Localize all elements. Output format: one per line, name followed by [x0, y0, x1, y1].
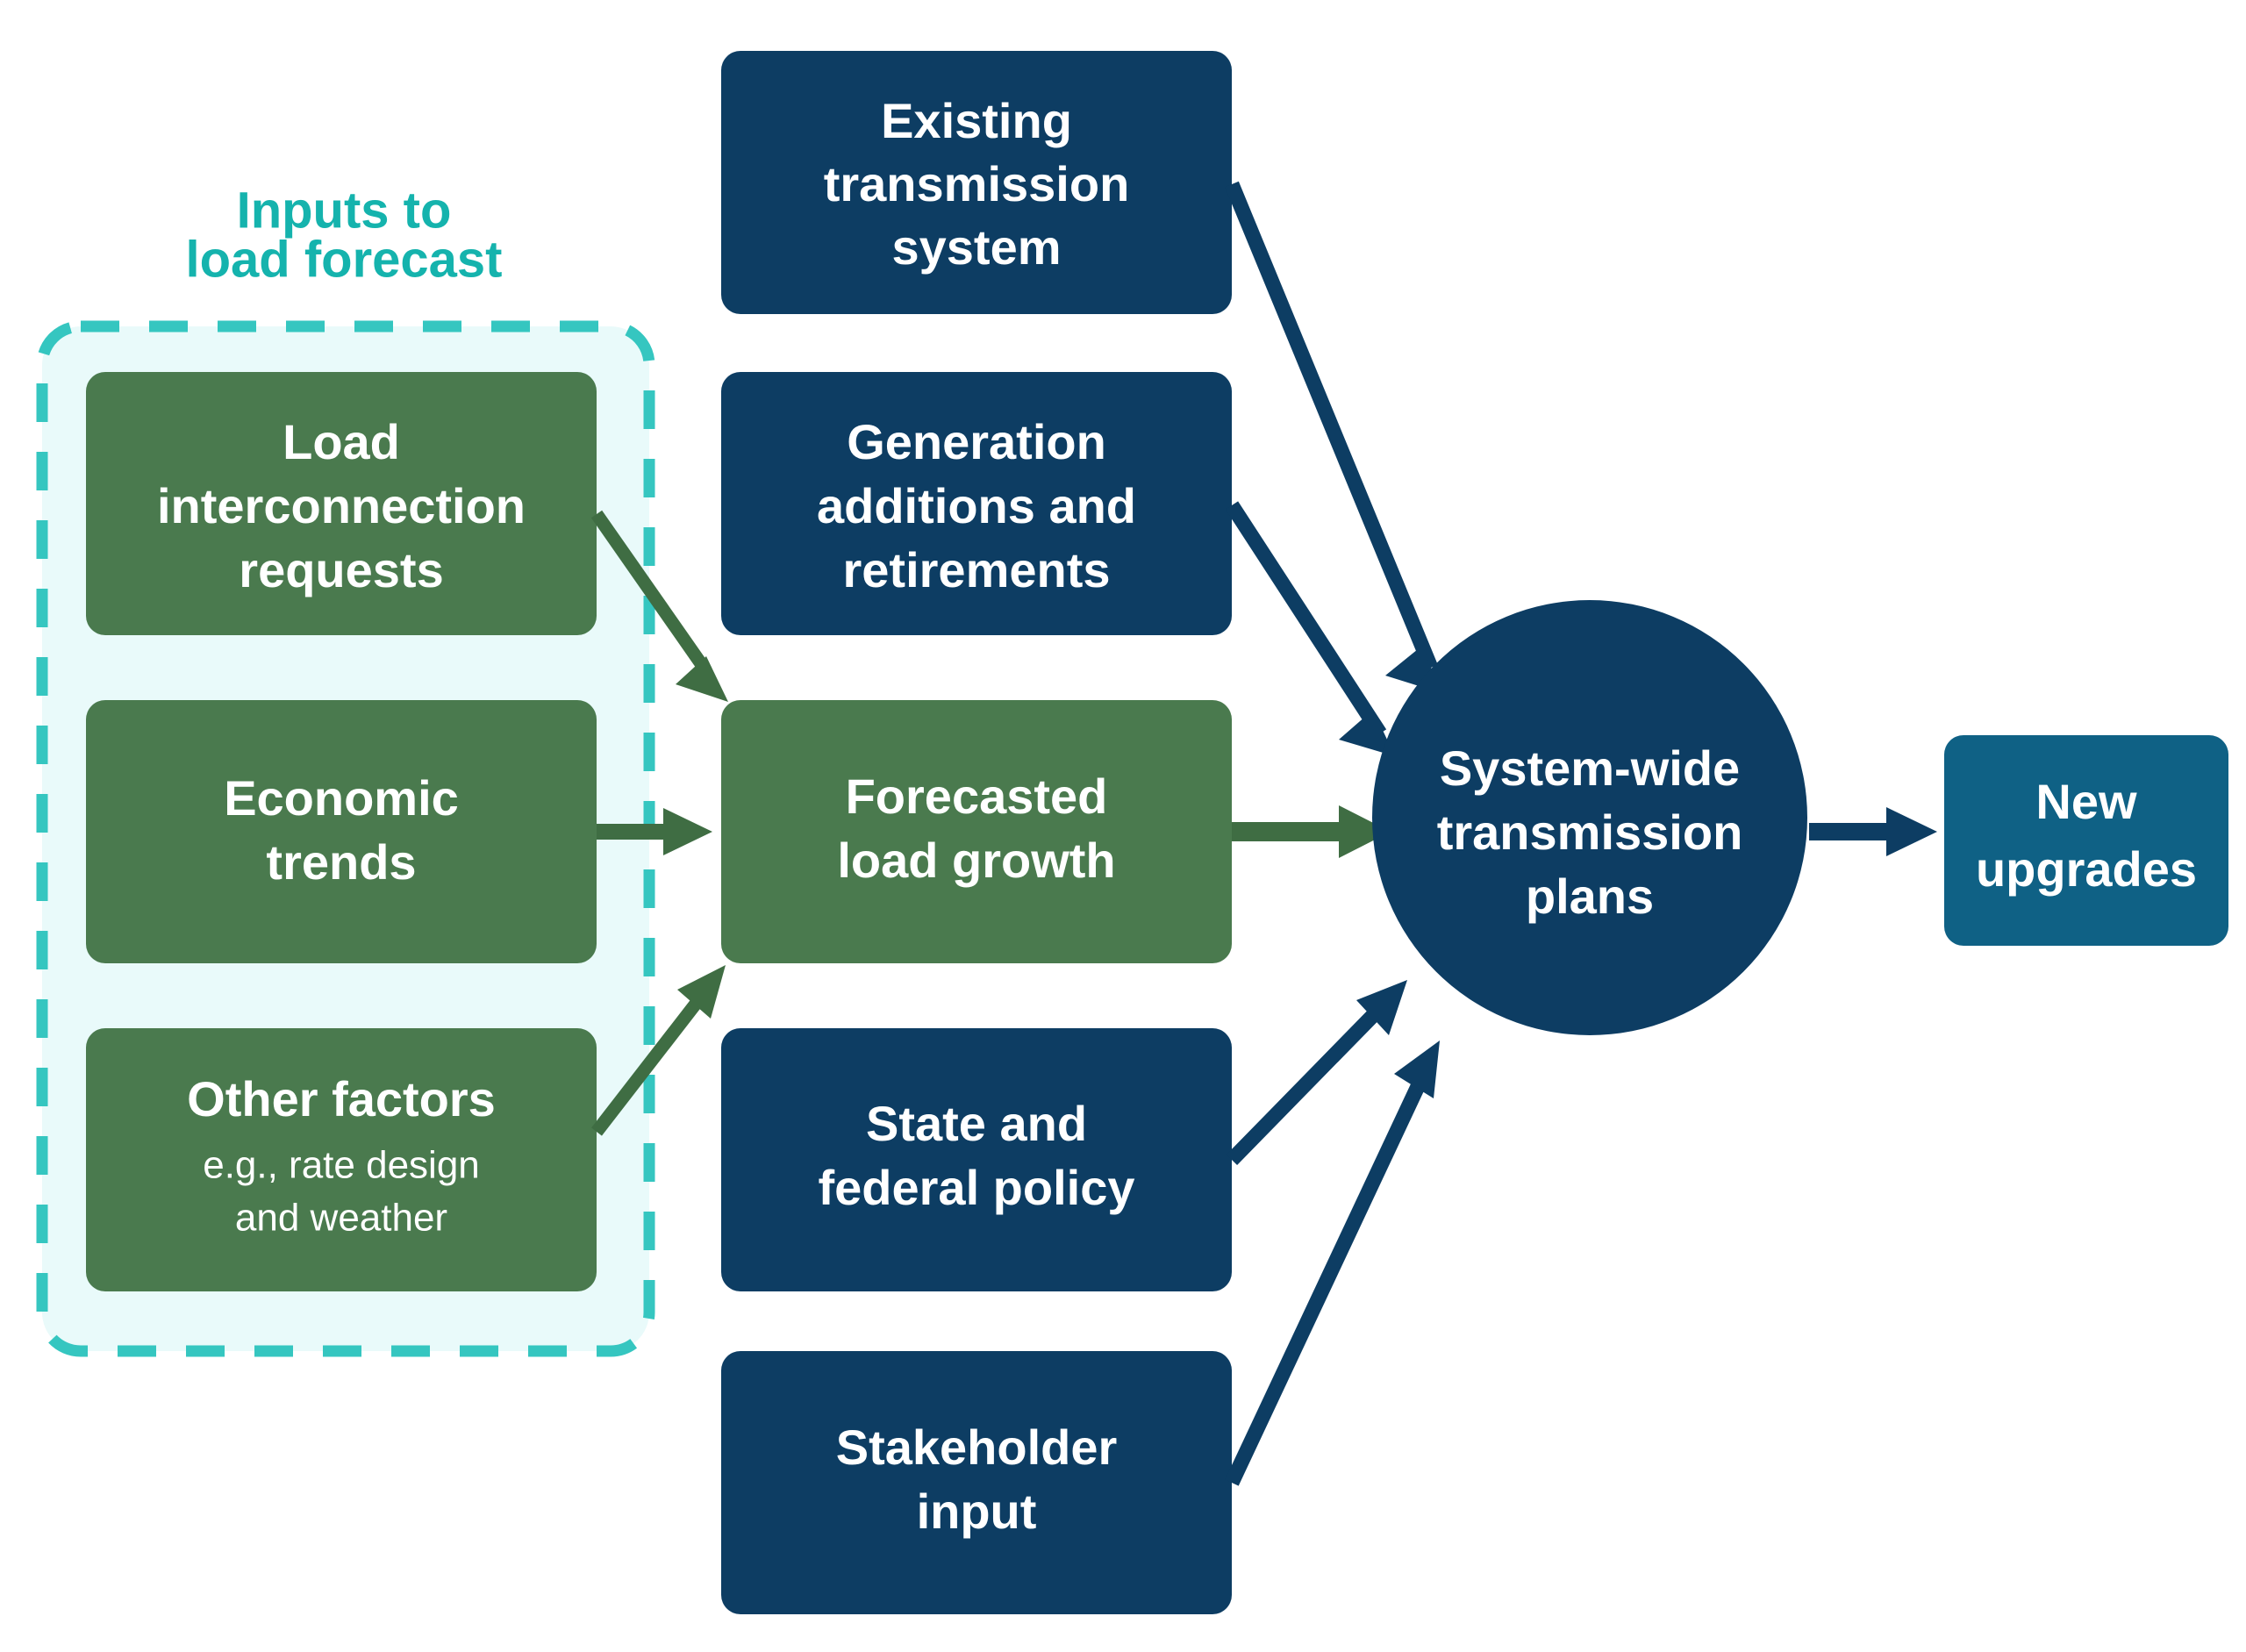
- node-line-1: Load: [283, 414, 400, 469]
- edge-stakeholder-input-to-hub: [1232, 1041, 1440, 1483]
- node-generation-additions-and-retirements[interactable]: Generation additions and retirements: [721, 372, 1232, 635]
- node-state-and-federal-policy[interactable]: State and federal policy: [721, 1028, 1232, 1291]
- node-line-2: additions and: [817, 478, 1136, 533]
- node-line-3: retirements: [842, 542, 1110, 597]
- node-line-2: federal policy: [818, 1160, 1134, 1215]
- hub-line-3: plans: [1526, 869, 1654, 924]
- node-line-1: Existing: [881, 93, 1072, 148]
- node-line-2: input: [917, 1484, 1037, 1539]
- node-line-1: New: [2035, 774, 2137, 829]
- node-line-1: Other factors: [187, 1071, 496, 1126]
- node-existing-transmission-system[interactable]: Existing transmission system: [721, 51, 1232, 314]
- node-stakeholder-input[interactable]: Stakeholder input: [721, 1351, 1232, 1614]
- node-line-1: State and: [866, 1096, 1087, 1151]
- node-line-3: system: [891, 219, 1061, 275]
- edge-state-and-federal-policy-to-hub: [1232, 980, 1407, 1160]
- node-new-upgrades[interactable]: New upgrades: [1944, 735, 2228, 946]
- node-other-factors[interactable]: Other factors e.g., rate design and weat…: [86, 1028, 597, 1291]
- node-forecasted-load-growth[interactable]: Forecasted load growth: [721, 700, 1232, 963]
- node-line-3: requests: [239, 542, 443, 597]
- node-line-1: Economic: [224, 770, 459, 826]
- node-economic-trends[interactable]: Economic trends: [86, 700, 597, 963]
- edge-generation-additions-and-retirements-to-hub: [1232, 505, 1395, 756]
- node-system-wide-transmission-plans[interactable]: System-wide transmission plans: [1372, 600, 1807, 1035]
- node-line-2: upgrades: [1976, 841, 2197, 897]
- node-line-2: transmission: [824, 156, 1130, 211]
- hub-line-1: System-wide: [1440, 740, 1740, 796]
- diagram-canvas: Inputs to load forecast Load interconnec…: [0, 0, 2246, 1652]
- node-line-1: Stakeholder: [836, 1420, 1118, 1475]
- node-load-interconnection-requests[interactable]: Load interconnection requests: [86, 372, 597, 635]
- edge-existing-transmission-system-to-hub: [1232, 184, 1441, 693]
- hub-line-2: transmission: [1437, 805, 1743, 860]
- node-subline-2: and weather: [235, 1197, 447, 1240]
- edge-forecasted-load-growth-to-hub: [1232, 805, 1391, 858]
- node-line-2: load growth: [837, 833, 1115, 888]
- node-line-2: interconnection: [157, 478, 526, 533]
- node-subline-1: e.g., rate design: [203, 1144, 480, 1187]
- node-line-2: trends: [266, 834, 416, 890]
- node-box: [86, 700, 597, 963]
- node-line-1: Forecasted: [846, 769, 1108, 824]
- inputs-group-title-line2: load forecast: [186, 231, 503, 288]
- edge-hub-to-new-upgrades: [1809, 807, 1937, 856]
- node-line-1: Generation: [847, 414, 1106, 469]
- flow-diagram: Inputs to load forecast Load interconnec…: [0, 0, 2246, 1652]
